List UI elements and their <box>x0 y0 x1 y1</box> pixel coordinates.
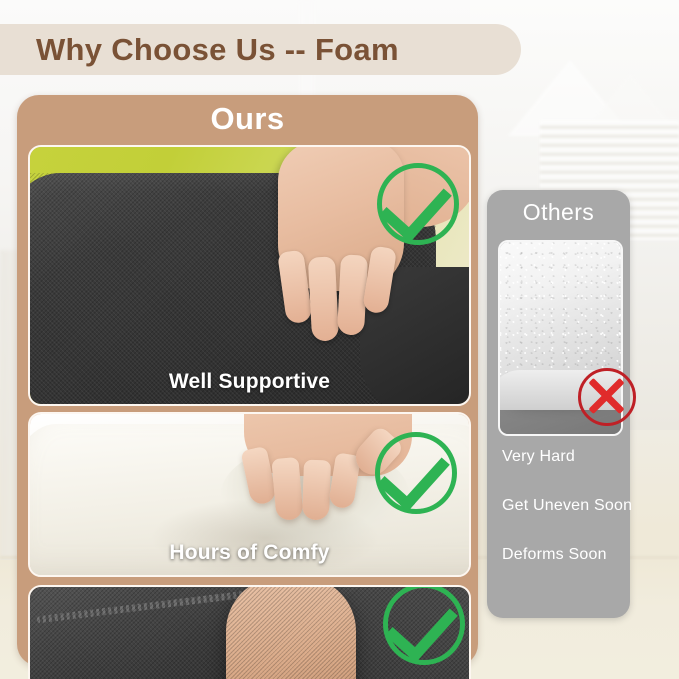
others-panel: Others Very Hard Get Uneven Soon Deforms… <box>487 190 630 618</box>
green-check-icon <box>375 432 457 514</box>
photo1-finger <box>308 256 339 341</box>
others-drawback-item: Deforms Soon <box>487 546 630 564</box>
photo2-hand-shadow <box>150 498 380 577</box>
others-drawback-item: Very Hard <box>487 448 630 466</box>
ours-feature-photo-3: 5-Year-No-Deformation <box>28 585 471 679</box>
ours-feature-photo-2: Hours of Comfy <box>28 412 471 577</box>
green-check-icon <box>383 585 465 665</box>
ours-panel-title: Ours <box>17 101 478 137</box>
title-banner: Why Choose Us -- Foam <box>0 24 521 75</box>
photo2-finger <box>271 457 303 521</box>
others-drawback-list: Very Hard Get Uneven Soon Deforms Soon <box>487 448 630 595</box>
page-title: Why Choose Us -- Foam <box>36 32 399 68</box>
green-check-icon <box>377 163 459 245</box>
ours-feature-photo-1: Well Supportive <box>28 145 471 406</box>
infographic-canvas: Why Choose Us -- Foam Ours Well Supporti… <box>0 0 679 679</box>
others-drawback-item: Get Uneven Soon <box>487 497 630 515</box>
ours-panel: Ours Well Supportive <box>17 95 478 666</box>
red-x-icon <box>578 368 636 426</box>
others-panel-title: Others <box>487 199 630 226</box>
photo2-finger <box>302 460 331 521</box>
